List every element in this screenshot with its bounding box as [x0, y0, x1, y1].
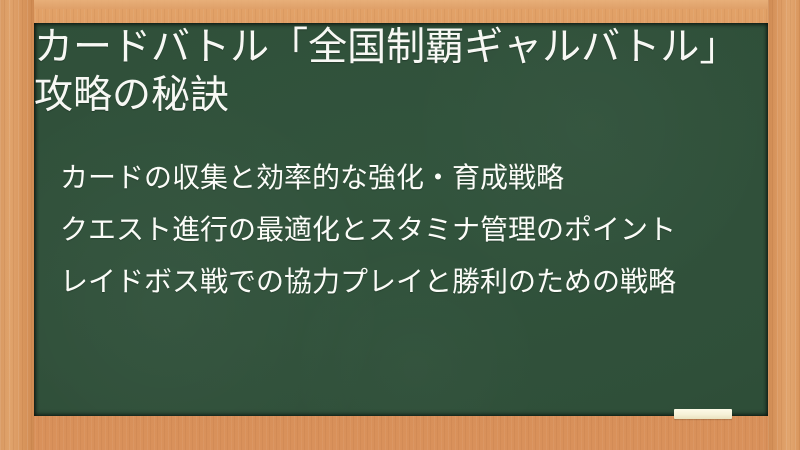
frame-top-highlight	[0, 0, 800, 9]
chalk-stick-icon	[674, 409, 732, 419]
list-item: レイドボス戦での協力プレイと勝利のための戦略	[60, 256, 760, 308]
blackboard-frame: カードバトル「全国制覇ギャルバトル」攻略の秘訣 カードの収集と効率的な強化・育成…	[0, 0, 800, 450]
bullet-list: カードの収集と効率的な強化・育成戦略 クエスト進行の最適化とスタミナ管理のポイン…	[60, 152, 760, 308]
page-title: カードバトル「全国制覇ギャルバトル」攻略の秘訣	[34, 24, 724, 120]
frame-left-plank	[0, 0, 34, 450]
list-item: カードの収集と効率的な強化・育成戦略	[60, 152, 760, 204]
list-item: クエスト進行の最適化とスタミナ管理のポイント	[60, 204, 760, 256]
frame-right-plank	[768, 0, 800, 450]
